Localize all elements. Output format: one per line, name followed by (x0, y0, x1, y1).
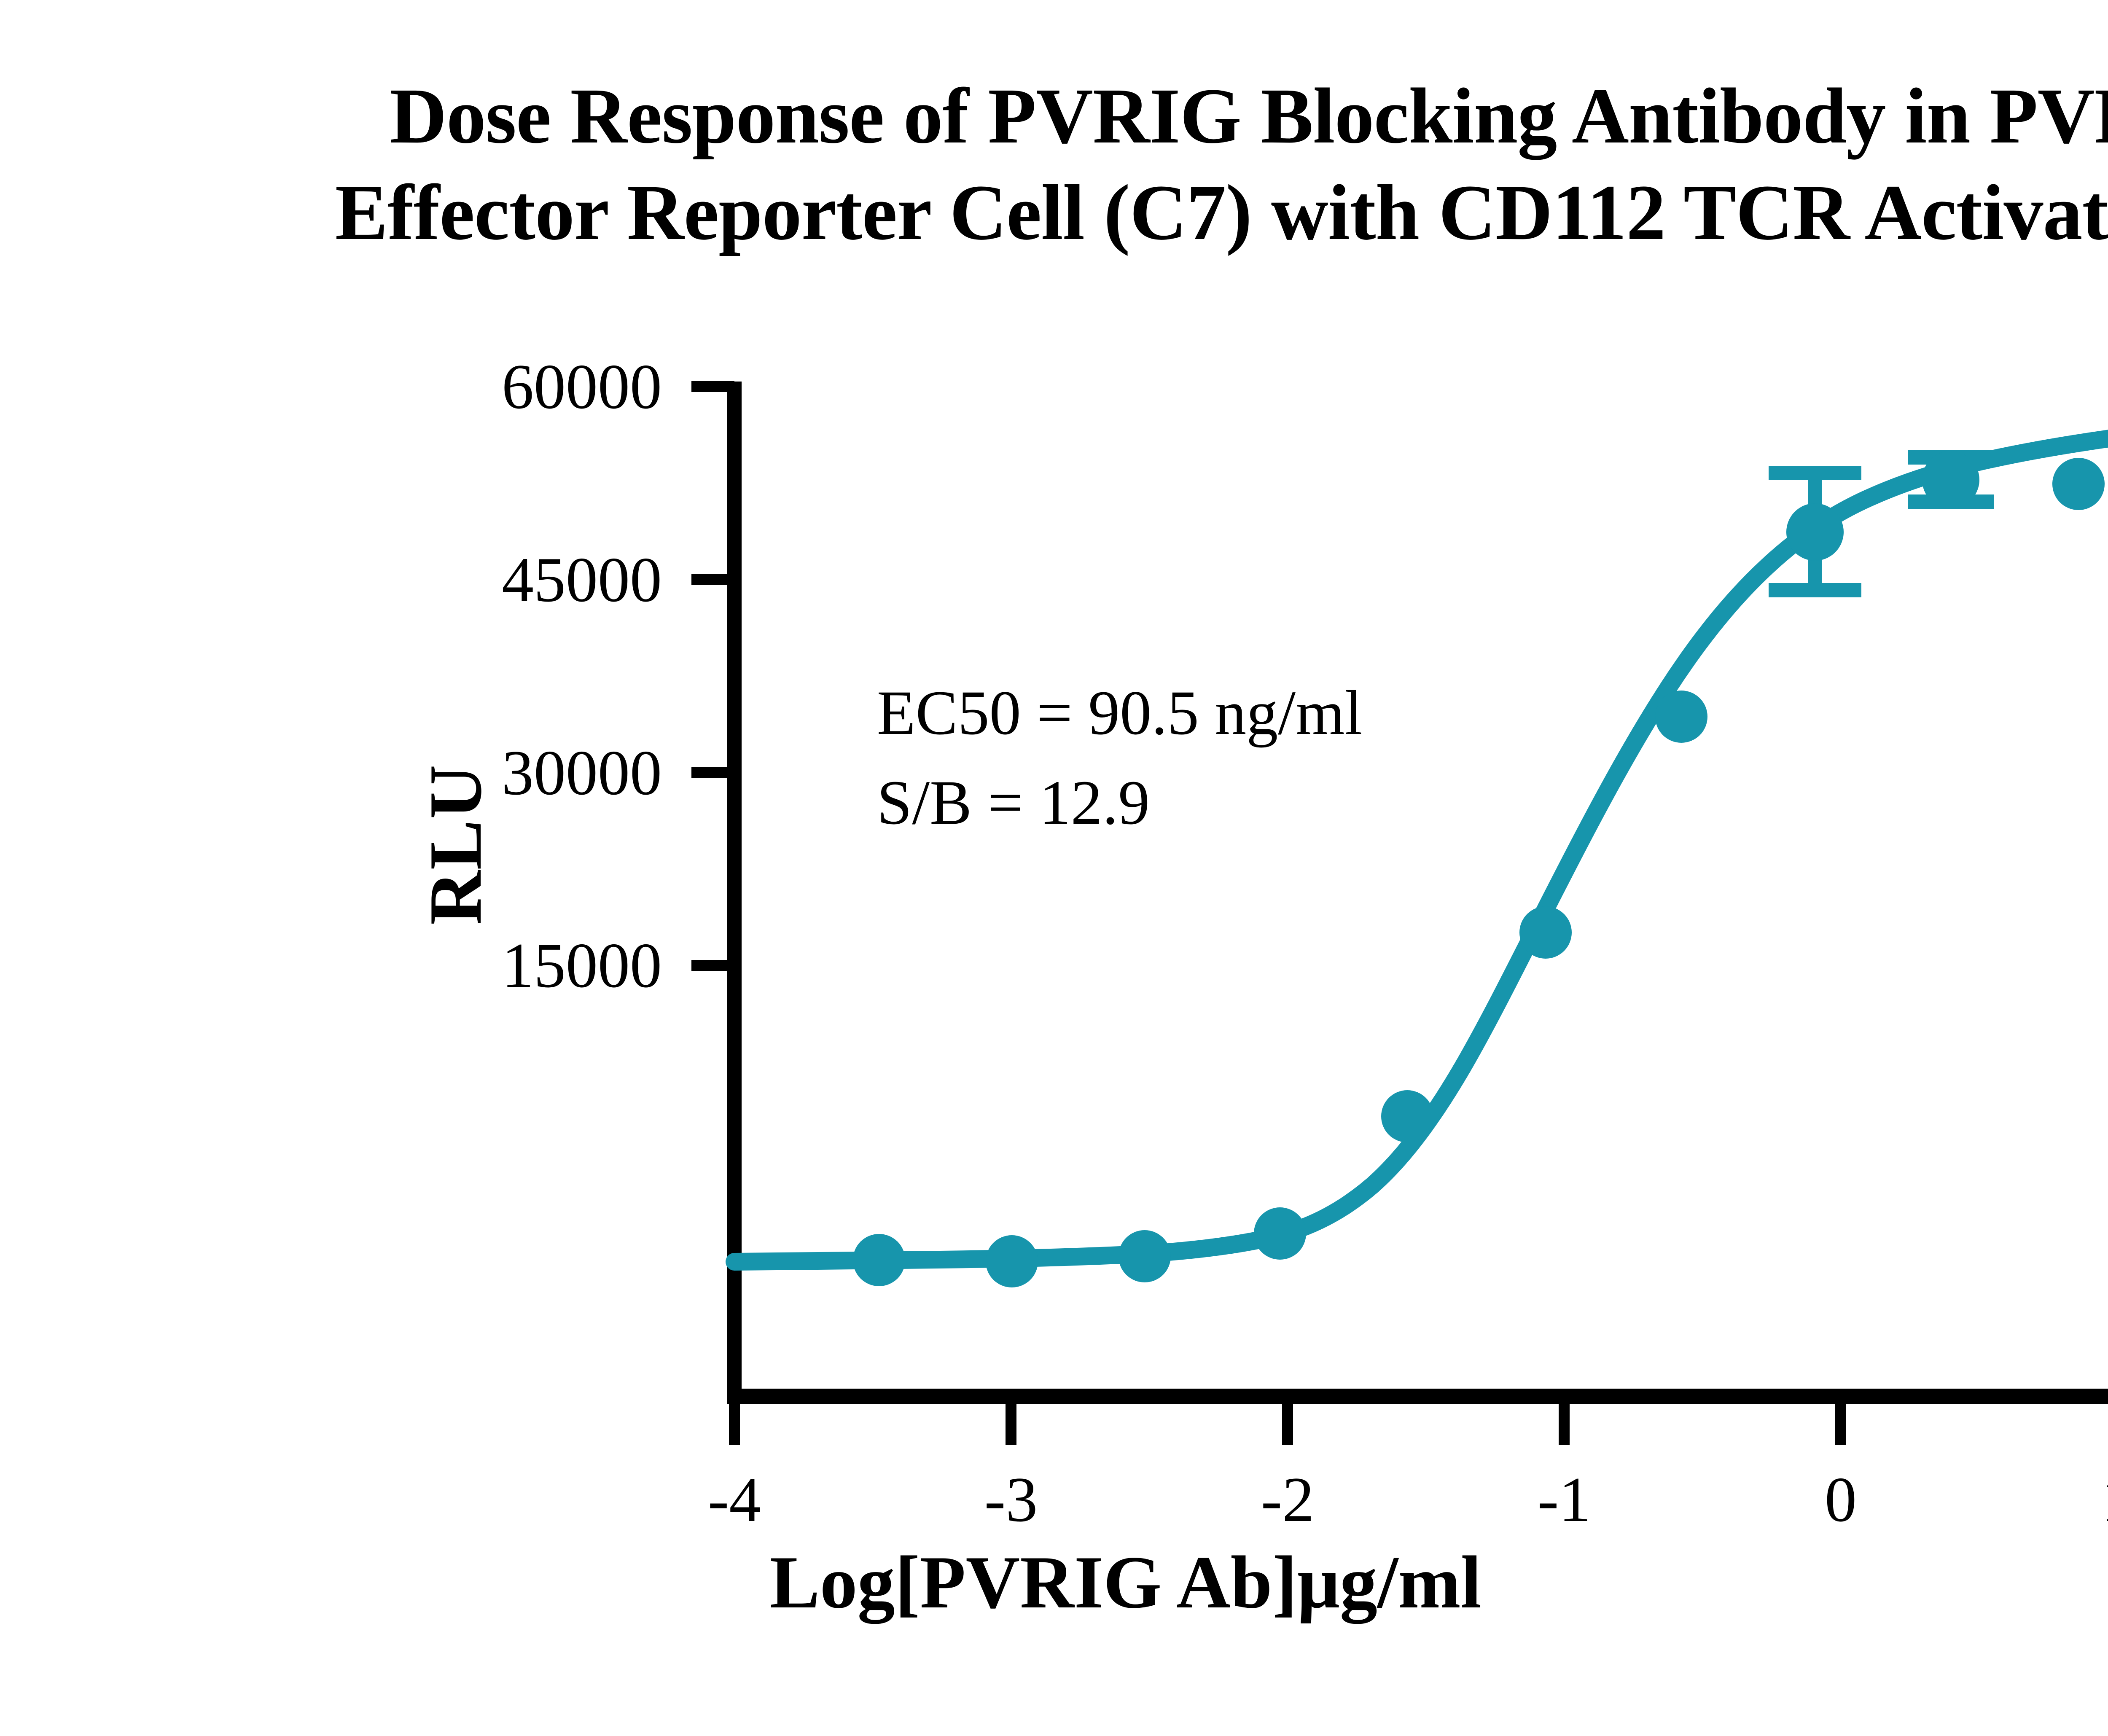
data-point (986, 1235, 1038, 1287)
x-tick-label--4: -4 (671, 1463, 798, 1536)
data-point (1786, 503, 1844, 561)
y-tick-label-30000: 30000 (367, 736, 662, 809)
data-point (2052, 458, 2105, 510)
x-tick-label-1: 1 (2054, 1463, 2108, 1536)
annotation-signal-to-background: S/B = 12.9 (877, 758, 1362, 848)
data-point (1519, 906, 1572, 959)
x-tick-label--1: -1 (1501, 1463, 1627, 1536)
chart-figure: Dose Response of PVRIG Blocking Antibody… (0, 0, 2108, 1736)
y-tick-label-45000: 45000 (367, 543, 662, 616)
data-point (1381, 1090, 1433, 1142)
x-axis-label: Log[PVRIG Ab]μg/ml (0, 1539, 2108, 1626)
plot-area: 60000 45000 30000 15000 -4 -3 -2 -1 0 1 … (0, 0, 2108, 1736)
x-tick-label--3: -3 (948, 1463, 1074, 1536)
y-tick-label-15000: 15000 (367, 929, 662, 1002)
y-axis-label: RLU (412, 718, 499, 971)
data-point (853, 1234, 905, 1286)
x-ticks (734, 1404, 2108, 1445)
axes (729, 382, 2108, 1404)
chart-annotations: EC50 = 90.5 ng/ml S/B = 12.9 (877, 668, 1362, 848)
data-point (1254, 1207, 1306, 1260)
data-point (1922, 451, 1979, 508)
data-point (1655, 691, 1707, 743)
x-tick-label-0: 0 (1777, 1463, 1904, 1536)
x-tick-label--2: -2 (1224, 1463, 1351, 1536)
y-tick-label-60000: 60000 (367, 350, 662, 423)
annotation-ec50: EC50 = 90.5 ng/ml (877, 668, 1362, 758)
data-point (1119, 1230, 1171, 1282)
